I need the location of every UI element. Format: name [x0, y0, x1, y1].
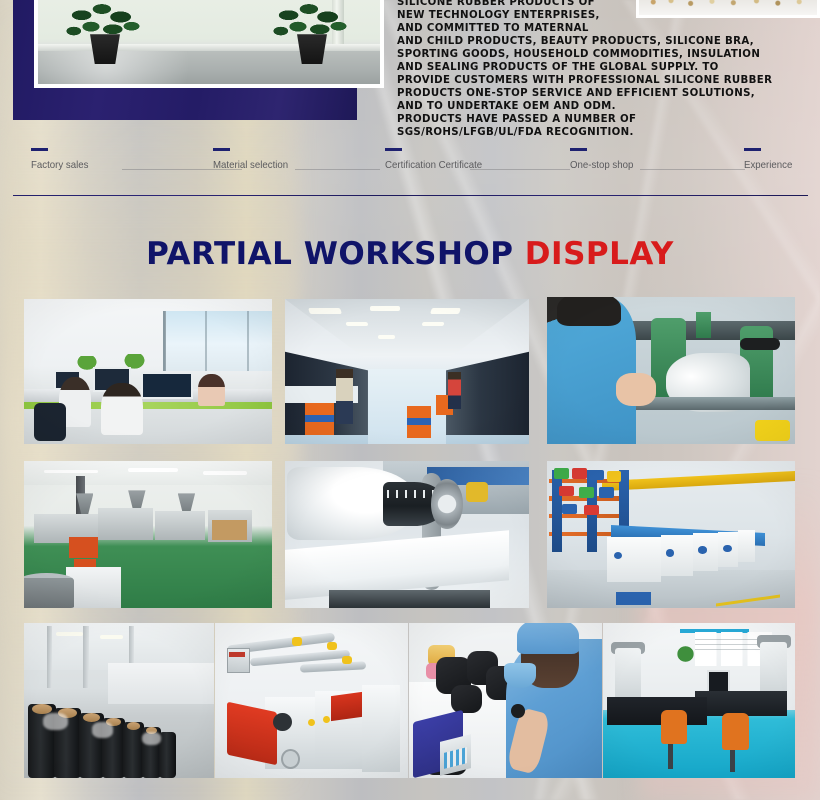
- machine-unit: [607, 537, 662, 581]
- extruder-unit: [98, 508, 153, 540]
- machine-label-badge: [698, 546, 706, 553]
- ceiling-light: [44, 470, 99, 474]
- yellow-end-cap: [327, 642, 337, 651]
- feature-item-certification-certificate[interactable]: Certification Certificate: [385, 148, 491, 171]
- factory-pillar: [47, 626, 53, 688]
- feature-item-one-stop-shop[interactable]: One-stop shop: [570, 148, 639, 171]
- machine-label-badge: [666, 549, 674, 556]
- office-worker: [101, 383, 143, 435]
- storage-bin: [599, 487, 614, 497]
- feature-dash-icon: [213, 148, 230, 151]
- feature-label: Experience: [744, 159, 792, 171]
- inspected-part: [511, 704, 525, 718]
- feature-connector-line: [640, 169, 745, 170]
- yellow-end-cap: [292, 637, 302, 646]
- rubber-roll: [159, 732, 176, 779]
- trolley-shelf: [305, 415, 334, 422]
- gallery-photo-rubber-rolls[interactable]: [24, 623, 214, 778]
- gallery-photo-die-cutting-machine[interactable]: [215, 623, 408, 778]
- gallery-photo-qc-inspection[interactable]: [409, 623, 602, 778]
- operator-hair: [557, 297, 621, 326]
- bag-of-black-parts: [451, 685, 482, 713]
- feature-dash-icon: [570, 148, 587, 151]
- ceiling-light: [56, 632, 83, 636]
- gallery-photo-machine-operator[interactable]: [547, 297, 795, 444]
- machine-housing: [362, 685, 401, 772]
- roller-flange-bearing: [431, 479, 463, 529]
- office-chair: [661, 710, 688, 744]
- lab-plant: [676, 645, 695, 664]
- storage-bin: [589, 470, 604, 480]
- banner-company-description: SILICONE RUBBER PRODUCTS OF NEW TECHNOLO…: [397, 0, 815, 140]
- plastic-wrapping: [43, 713, 68, 730]
- feature-connector-line: [295, 169, 380, 170]
- ceiling-light: [203, 471, 248, 475]
- banner-bottom-navy-bar: [13, 195, 808, 196]
- feature-label: Material selection: [213, 159, 288, 171]
- cardboard-carton: [212, 520, 247, 541]
- machine-unit: [738, 530, 755, 562]
- gallery-photo-lab-office[interactable]: [603, 623, 795, 778]
- roll-core-end: [127, 722, 140, 730]
- storage-bin: [607, 471, 622, 481]
- feature-item-material-selection[interactable]: Material selection: [213, 148, 295, 171]
- banner-line: PRODUCTS HAVE PASSED A NUMBER OF: [397, 113, 815, 126]
- banner-line: AND CHILD PRODUCTS, BEAUTY PRODUCTS, SIL…: [397, 35, 815, 48]
- control-panel-indicator: [229, 652, 244, 657]
- factory-wall-panel: [108, 663, 214, 703]
- banner-line: AND SEALING PRODUCTS OF THE GLOBAL SUPPL…: [397, 61, 815, 74]
- feature-dash-icon: [744, 148, 761, 151]
- red-conveyor-belt: [331, 692, 362, 721]
- storage-bin: [562, 504, 577, 514]
- banner-line: SILICONE RUBBER PRODUCTS OF: [397, 0, 815, 9]
- gallery-photo-cnc-workshop[interactable]: [285, 299, 529, 444]
- gallery-photo-extrusion-line[interactable]: [24, 461, 272, 608]
- gallery-photo-warehouse[interactable]: [547, 461, 795, 608]
- gallery-photo-office[interactable]: [24, 299, 272, 444]
- feature-item-experience[interactable]: Experience: [744, 148, 797, 171]
- feature-dash-icon: [31, 148, 48, 151]
- gallery-photo-roller-closeup[interactable]: [285, 461, 529, 608]
- orange-machine-guard: [69, 537, 99, 558]
- ceiling-light: [100, 635, 123, 639]
- banner-line: AND TO UNDERTAKE OEM AND ODM.: [397, 100, 815, 113]
- feature-dash-icon: [385, 148, 402, 151]
- section-title-accent: DISPLAY: [525, 236, 674, 272]
- lab-bench: [607, 697, 707, 725]
- storage-bin: [559, 486, 574, 496]
- feature-label: Factory sales: [31, 159, 88, 171]
- banner-line: SPORTING GOODS, HOUSEHOLD COMMODITIES, I…: [397, 48, 815, 61]
- hairnet-cap: [517, 623, 579, 654]
- banner-hero-photo: [34, 0, 384, 88]
- machine-knob: [308, 719, 315, 726]
- feature-item-factory-sales[interactable]: Factory sales: [31, 148, 93, 171]
- yellow-end-cap: [342, 656, 352, 665]
- ceiling-light: [430, 308, 461, 314]
- rack-upright: [552, 470, 562, 552]
- factory-pillar: [83, 626, 89, 688]
- banner-line: PRODUCTS ONE-STOP SERVICE AND EFFICIENT …: [397, 87, 815, 100]
- banner-line: NEW TECHNOLOGY ENTERPRISES,: [397, 9, 815, 22]
- yellow-machine-part: [466, 482, 488, 503]
- storage-bin: [584, 505, 599, 515]
- plant-pot: [295, 34, 329, 64]
- feature-strip: Factory sales Material selection Certifi…: [0, 148, 820, 188]
- office-window-mullions: [163, 311, 272, 372]
- feature-label: One-stop shop: [570, 159, 633, 171]
- chair-base: [668, 744, 673, 769]
- machine-label-badge: [723, 545, 731, 552]
- overhead-crane-beam: [602, 471, 795, 491]
- section-title: PARTIAL WORKSHOP DISPLAY: [0, 236, 820, 272]
- cooling-fan: [281, 749, 300, 769]
- green-machine-part: [696, 312, 711, 338]
- cnc-operator: [336, 369, 353, 424]
- top-banner: SILICONE RUBBER PRODUCTS OF NEW TECHNOLO…: [0, 0, 820, 196]
- operator-hand: [616, 373, 656, 405]
- yellow-tool: [755, 420, 790, 441]
- office-chair: [34, 403, 66, 441]
- roller-scale-marks: [387, 490, 436, 497]
- chair-base: [730, 750, 735, 772]
- trolley-shelf: [407, 418, 431, 425]
- rubber-roll: [123, 722, 144, 778]
- ceiling-light: [128, 468, 178, 472]
- storage-bin: [579, 487, 594, 497]
- office-monitor: [141, 372, 193, 400]
- ceiling-light: [421, 322, 444, 326]
- blue-floor-bin: [616, 592, 651, 605]
- page-root: SILICONE RUBBER PRODUCTS OF NEW TECHNOLO…: [0, 0, 820, 800]
- cnc-operator: [448, 372, 460, 410]
- potted-plant-right: [273, 2, 351, 64]
- control-cabinet: [66, 567, 121, 608]
- banner-line: AND COMMITTED TO MATERNAL: [397, 22, 815, 35]
- feature-label: Certification Certificate: [385, 159, 482, 171]
- plant-pot: [88, 34, 122, 64]
- ceiling-light: [308, 308, 342, 314]
- ceiling-light: [370, 306, 399, 311]
- steel-drum: [24, 573, 74, 608]
- machine-shadow-gap: [329, 590, 490, 608]
- ceiling-light: [378, 335, 395, 338]
- banner-line: PROVIDE CUSTOMERS WITH PROFESSIONAL SILI…: [397, 74, 815, 87]
- red-conveyor-belt: [227, 701, 277, 764]
- office-chair: [722, 713, 749, 750]
- extruder-unit: [155, 511, 205, 540]
- machine-handle: [740, 338, 780, 350]
- office-worker: [198, 374, 225, 406]
- ceiling-light: [346, 322, 369, 326]
- plastic-wrapping: [92, 722, 113, 738]
- machine-guide-rail: [300, 662, 366, 673]
- plastic-wrapping: [142, 732, 161, 746]
- banner-line: SGS/ROHS/LFGB/UL/FDA RECOGNITION.: [397, 126, 815, 139]
- potted-plant-left: [66, 2, 144, 64]
- storage-bin: [554, 468, 569, 478]
- storage-bin: [572, 468, 587, 478]
- section-title-primary: PARTIAL WORKSHOP: [146, 236, 513, 272]
- corridor-photo-content: [38, 0, 380, 84]
